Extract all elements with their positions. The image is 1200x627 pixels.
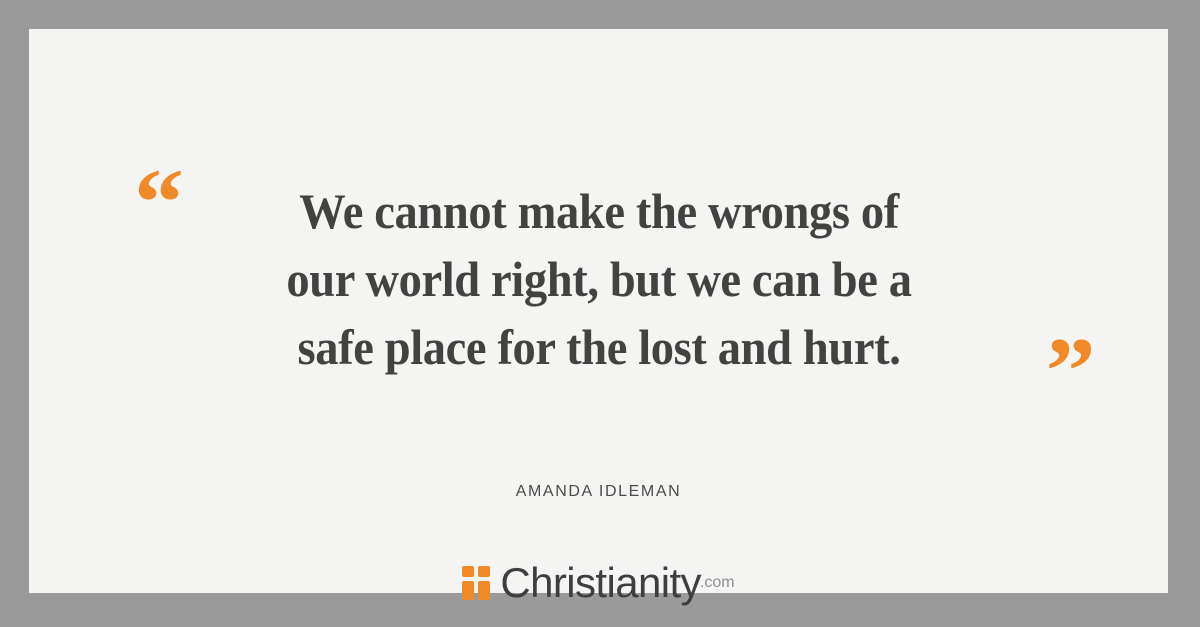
quote-line: We cannot make the wrongs of	[213, 177, 985, 245]
christianity-logo: Christianity .com	[29, 563, 1168, 603]
opening-quote-mark-icon: “	[134, 155, 184, 250]
logo-tld: .com	[700, 563, 735, 603]
quote-block: “ We cannot make the wrongs of our world…	[29, 177, 1168, 381]
logo-wordmark: Christianity	[500, 563, 701, 603]
christianity-cross-icon	[462, 566, 493, 600]
quote-card: “ We cannot make the wrongs of our world…	[29, 29, 1168, 593]
closing-quote-mark-icon: ”	[1046, 324, 1096, 419]
quote-line: our world right, but we can be a	[213, 245, 985, 313]
quote-card-frame: “ We cannot make the wrongs of our world…	[0, 0, 1200, 627]
quote-attribution: AMANDA IDLEMAN	[29, 483, 1168, 501]
quote-line: safe place for the lost and hurt.	[213, 313, 985, 381]
quote-text-wrap: “ We cannot make the wrongs of our world…	[184, 177, 1014, 381]
